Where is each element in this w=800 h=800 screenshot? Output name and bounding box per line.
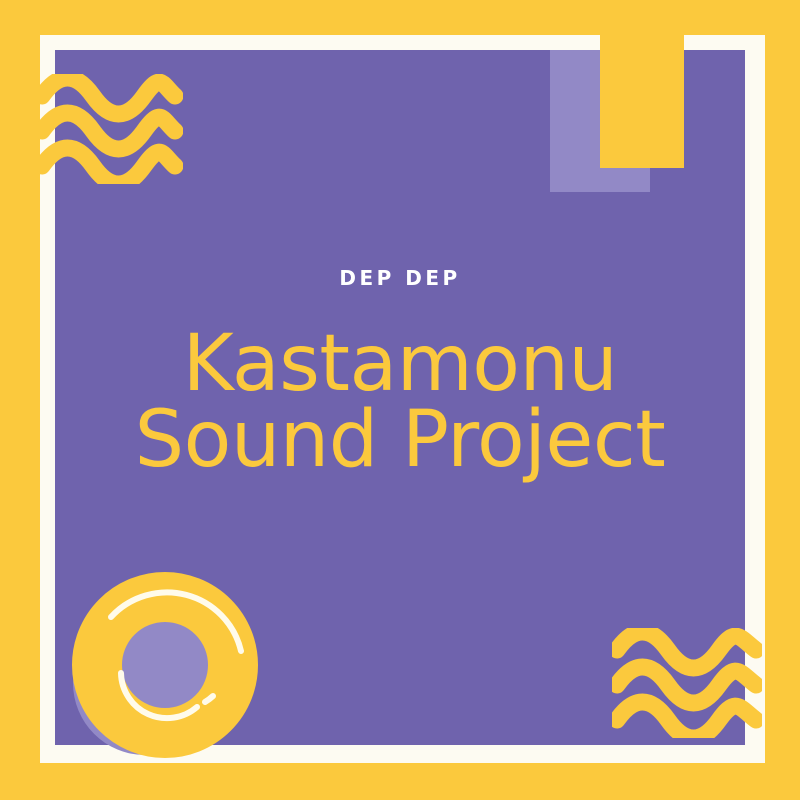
wave-lines-icon-top-left (38, 74, 183, 184)
top-right-yellow-rectangle (600, 0, 684, 168)
wave-lines-icon-bottom-right (612, 628, 762, 738)
donut-circle-icon-bottom-left (45, 565, 345, 800)
poster-canvas: DEP DEP Kastamonu Sound Project (0, 0, 800, 800)
